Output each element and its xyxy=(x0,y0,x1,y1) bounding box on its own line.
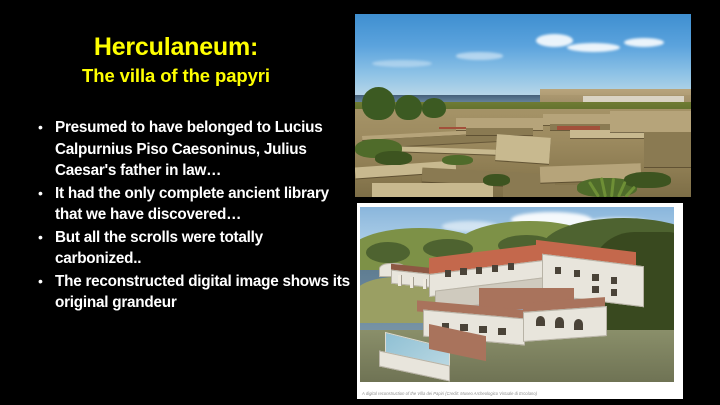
tree xyxy=(362,87,396,120)
column xyxy=(423,279,427,290)
bullet-point-icon: • xyxy=(36,271,55,293)
title-block: Herculaneum: The villa of the papyri xyxy=(0,33,352,86)
terracotta-roof xyxy=(557,126,601,130)
column xyxy=(398,275,402,286)
caption-bar: A digital reconstruction of the Villa de… xyxy=(357,382,683,399)
cloud xyxy=(372,60,432,67)
list-item: • It had the only complete ancient libra… xyxy=(36,183,352,226)
window xyxy=(592,274,598,281)
window xyxy=(508,263,514,270)
image-caption: A digital reconstruction of the Villa de… xyxy=(362,391,537,396)
window xyxy=(492,265,498,272)
list-item: • The reconstructed digital image shows … xyxy=(36,271,352,314)
vegetation xyxy=(483,174,510,186)
bullet-point-icon: • xyxy=(36,117,55,139)
ruin-wall xyxy=(610,111,691,132)
window xyxy=(611,277,617,284)
bullet-text: The reconstructed digital image shows it… xyxy=(55,271,352,314)
arch-opening xyxy=(536,316,545,327)
arch-opening xyxy=(574,319,583,330)
cloud xyxy=(456,52,503,59)
tree xyxy=(422,98,446,118)
window xyxy=(460,268,466,275)
list-item: • Presumed to have belonged to Lucius Ca… xyxy=(36,117,352,182)
slide-title: Herculaneum: xyxy=(0,33,352,61)
vegetation xyxy=(442,155,472,166)
list-item: • But all the scrolls were totally carbo… xyxy=(36,227,352,270)
window xyxy=(611,289,617,296)
slide-text-column: Herculaneum: The villa of the papyri • P… xyxy=(0,0,352,405)
villa-reconstruction-photo: A digital reconstruction of the Villa de… xyxy=(357,203,683,399)
window xyxy=(592,286,598,293)
vegetation xyxy=(624,172,671,188)
ruin-wall xyxy=(644,132,691,167)
bullet-list: • Presumed to have belonged to Lucius Ca… xyxy=(36,117,352,315)
column xyxy=(410,277,414,288)
bullet-point-icon: • xyxy=(36,183,55,205)
window xyxy=(476,267,482,274)
window xyxy=(574,270,580,277)
cloud xyxy=(624,38,664,47)
slide-subtitle: The villa of the papyri xyxy=(0,65,352,86)
ruin-wall xyxy=(372,183,493,197)
bullet-text: Presumed to have belonged to Lucius Calp… xyxy=(55,117,352,182)
ruin-wall xyxy=(395,146,496,155)
villa-image-area xyxy=(360,207,674,382)
window xyxy=(479,326,487,333)
window xyxy=(498,328,506,335)
bullet-text: It had the only complete ancient library… xyxy=(55,183,352,226)
window xyxy=(445,270,451,277)
bullet-text: But all the scrolls were totally carboni… xyxy=(55,227,352,270)
window xyxy=(555,267,561,274)
ruin-wall xyxy=(495,134,550,164)
arch-opening xyxy=(555,317,564,328)
excavated-ruins xyxy=(355,109,691,197)
vegetation xyxy=(375,151,412,165)
tree xyxy=(395,95,422,121)
bullet-point-icon: • xyxy=(36,227,55,249)
trees xyxy=(366,242,410,263)
presentation-slide: Herculaneum: The villa of the papyri • P… xyxy=(0,0,720,405)
herculaneum-excavation-photo xyxy=(355,14,691,197)
sky xyxy=(355,14,691,98)
terracotta-roof xyxy=(439,127,466,130)
